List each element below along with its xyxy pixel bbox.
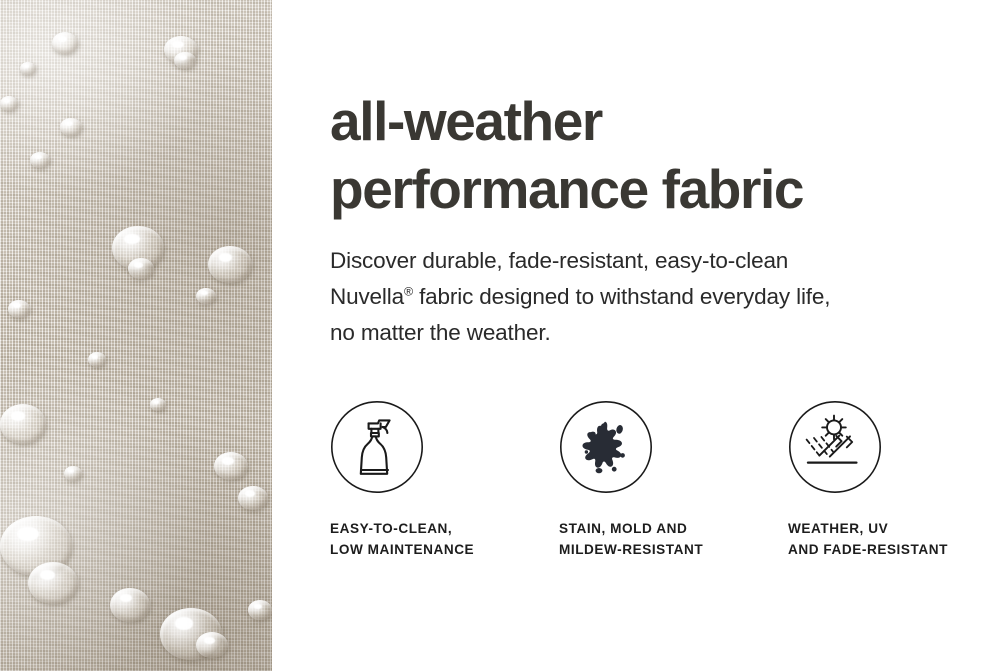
- water-droplet: [196, 632, 228, 658]
- water-droplet: [174, 52, 196, 69]
- feature-stain-resistant: STAIN, MOLD AND MILDEW-RESISTANT: [559, 400, 788, 560]
- water-droplet: [128, 258, 154, 279]
- water-droplet: [64, 466, 82, 481]
- ink-splatter-icon: [559, 400, 653, 494]
- water-droplet: [248, 600, 272, 620]
- feature-easy-to-clean: EASY-TO-CLEAN, LOW MAINTENANCE: [330, 400, 559, 560]
- feature-caption: EASY-TO-CLEAN, LOW MAINTENANCE: [330, 518, 474, 560]
- water-droplet: [0, 96, 18, 111]
- description-line-3: no matter the weather.: [330, 320, 551, 345]
- feature-caption: STAIN, MOLD AND MILDEW-RESISTANT: [559, 518, 703, 560]
- description-line-1: Discover durable, fade-resistant, easy-t…: [330, 248, 788, 273]
- registered-trademark-icon: ®: [404, 285, 413, 299]
- sun-uv-reflect-icon: [788, 400, 882, 494]
- water-droplet: [150, 398, 166, 411]
- feature-caption: WEATHER, UV AND FADE-RESISTANT: [788, 518, 948, 560]
- all-weather-fabric-banner: all-weather performance fabric Discover …: [0, 0, 1005, 671]
- description-text: Discover durable, fade-resistant, easy-t…: [330, 243, 960, 351]
- water-droplet: [208, 246, 252, 283]
- content-panel: all-weather performance fabric Discover …: [272, 0, 1005, 671]
- page-title: all-weather performance fabric: [330, 87, 803, 223]
- description-line-2: fabric designed to withstand everyday li…: [413, 284, 830, 309]
- water-droplet: [60, 118, 82, 136]
- water-droplet: [238, 486, 268, 510]
- brand-name-nuvella: Nuvella: [330, 284, 404, 309]
- feature-weather-uv-resistant: WEATHER, UV AND FADE-RESISTANT: [788, 400, 1005, 560]
- feature-list: EASY-TO-CLEAN, LOW MAINTENANCE: [330, 400, 1005, 560]
- fabric-photo-panel: [0, 0, 272, 671]
- water-droplet: [110, 588, 150, 622]
- water-droplet: [20, 62, 36, 75]
- water-droplet: [8, 300, 30, 318]
- water-droplet: [88, 352, 106, 367]
- spray-bottle-icon: [330, 400, 424, 494]
- water-droplet: [0, 404, 46, 444]
- water-droplet: [28, 562, 78, 604]
- water-droplet: [196, 288, 216, 304]
- water-droplet: [30, 152, 50, 168]
- water-droplet: [52, 32, 78, 54]
- water-droplet: [214, 452, 248, 480]
